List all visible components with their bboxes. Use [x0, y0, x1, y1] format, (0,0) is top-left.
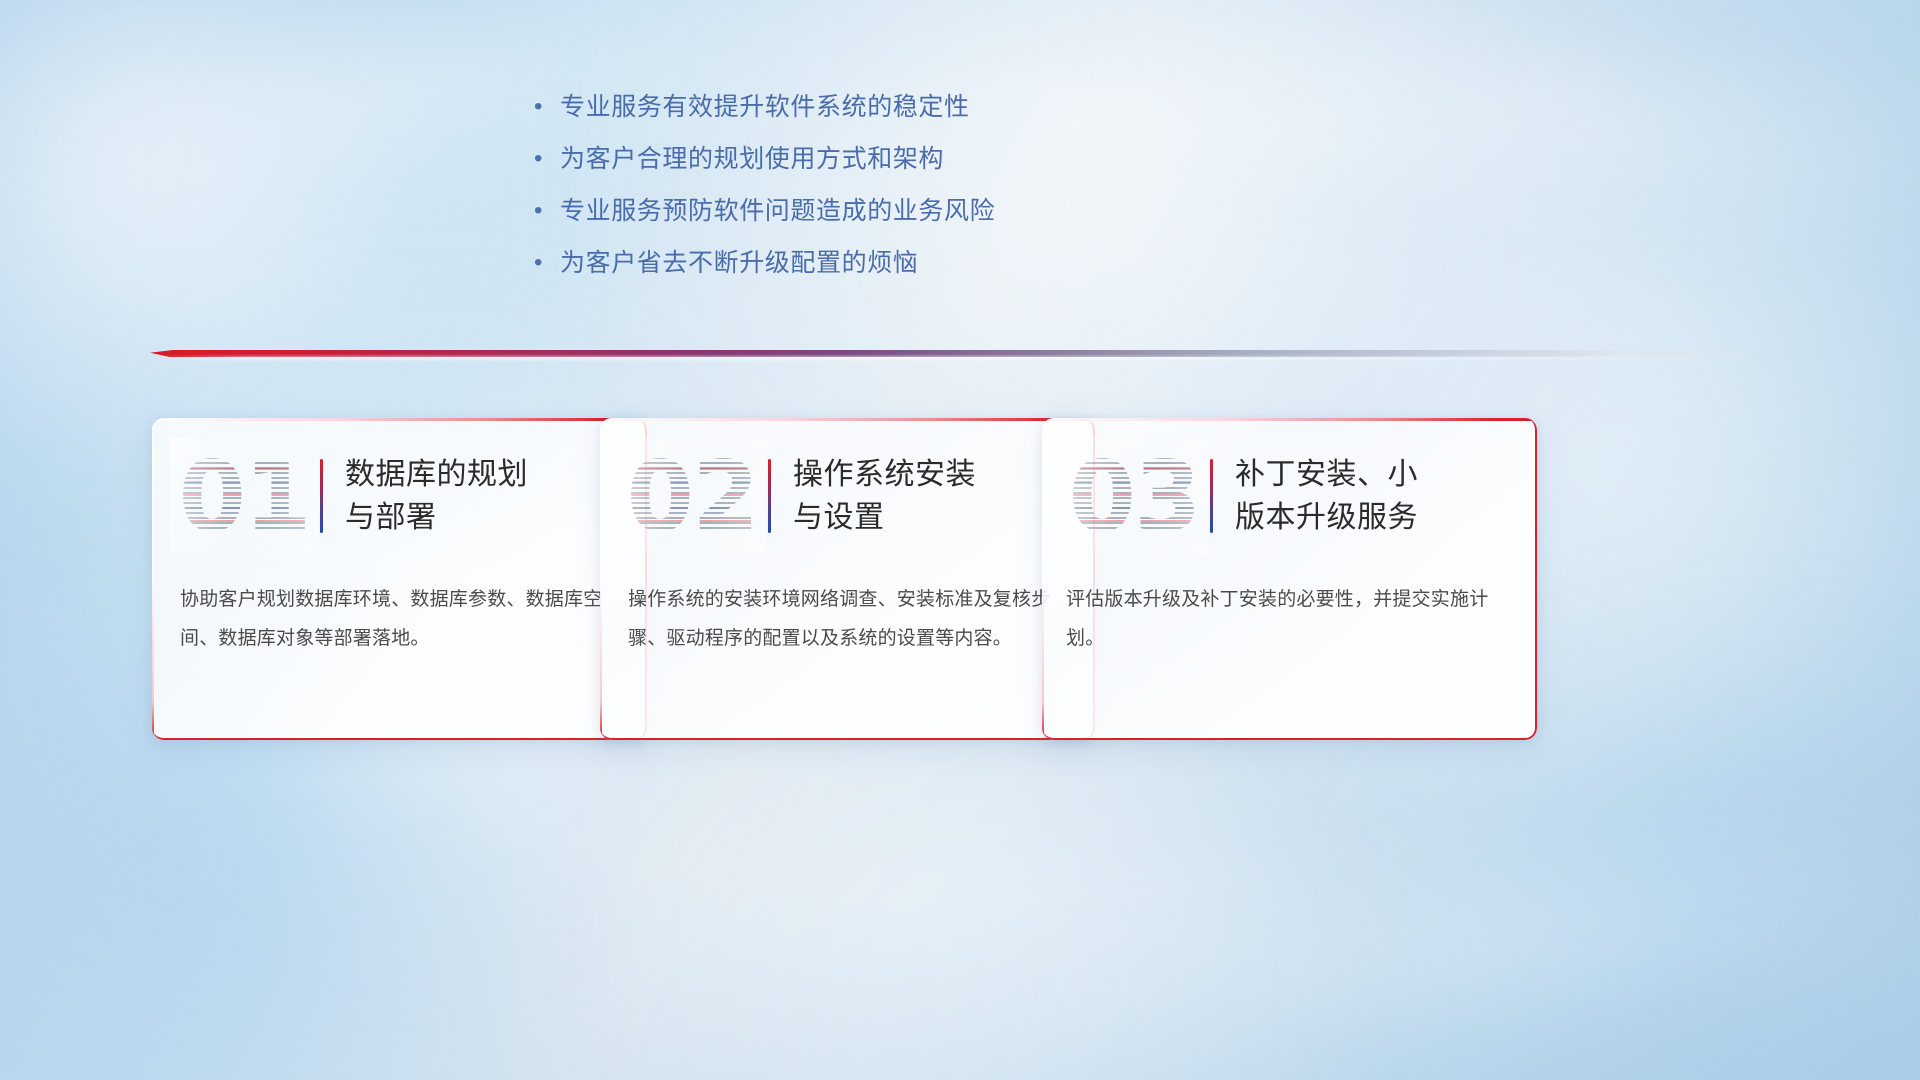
card-header: 02 02 操作系统安装 与设置	[600, 436, 1095, 556]
card-body-text: 评估版本升级及补丁安装的必要性，并提交实施计划。	[1066, 580, 1511, 658]
card-top-border	[600, 418, 1095, 421]
card-number-watermark: 02 02	[622, 442, 762, 550]
card-header: 03 03 补丁安装、小 版本升级服务	[1042, 436, 1537, 556]
card-accent-bar	[768, 459, 771, 533]
card-number-watermark: 01 01	[174, 442, 314, 550]
card-title: 操作系统安装 与设置	[793, 453, 990, 539]
service-card-group: 01 01 数据库的规划 与部署 协助客户规划数据库环境、数据库参数、数据库空间…	[0, 418, 1920, 748]
service-card-03[interactable]: 03 03 补丁安装、小 版本升级服务 评估版本升级及补丁安装的必要性，并提交实…	[1042, 418, 1537, 740]
list-item: 专业服务预防软件问题造成的业务风险	[534, 194, 1294, 246]
divider-highlight	[150, 356, 1780, 360]
card-body-text: 操作系统的安装环境网络调查、安装标准及复核步骤、驱动程序的配置以及系统的设置等内…	[628, 580, 1069, 658]
card-number-glyph-tint: 02	[622, 442, 762, 550]
card-body-text: 协助客户规划数据库环境、数据库参数、数据库空间、数据库对象等部署落地。	[180, 580, 621, 658]
card-number-watermark: 03 03	[1064, 442, 1204, 550]
card-number-glyph-tint: 01	[174, 442, 314, 550]
card-title: 数据库的规划 与部署	[345, 453, 542, 539]
card-title-line-1: 操作系统安装	[793, 453, 976, 496]
bullet-text: 为客户省去不断升级配置的烦恼	[560, 246, 918, 280]
card-title-line-1: 补丁安装、小	[1235, 453, 1418, 496]
bullet-dot-icon	[534, 90, 560, 124]
benefits-bullet-list: 专业服务有效提升软件系统的稳定性 为客户合理的规划使用方式和架构 专业服务预防软…	[534, 90, 1294, 298]
list-item: 为客户合理的规划使用方式和架构	[534, 142, 1294, 194]
service-card-02[interactable]: 02 02 操作系统安装 与设置 操作系统的安装环境网络调查、安装标准及复核步骤…	[600, 418, 1095, 740]
bullet-dot-icon	[534, 194, 560, 228]
card-title-line-2: 与设置	[793, 496, 976, 539]
bullet-dot-icon	[534, 142, 560, 176]
section-divider	[150, 348, 1780, 364]
list-item: 专业服务有效提升软件系统的稳定性	[534, 90, 1294, 142]
card-accent-bar	[1210, 459, 1213, 533]
bullet-text: 专业服务预防软件问题造成的业务风险	[560, 194, 995, 228]
bullet-text: 专业服务有效提升软件系统的稳定性	[560, 90, 970, 124]
card-number-glyph-tint: 03	[1064, 442, 1204, 550]
bullet-dot-icon	[534, 246, 560, 280]
card-accent-bar	[320, 459, 323, 533]
list-item: 为客户省去不断升级配置的烦恼	[534, 246, 1294, 298]
card-top-border	[1042, 418, 1537, 421]
card-title-line-2: 版本升级服务	[1235, 496, 1418, 539]
card-header: 01 01 数据库的规划 与部署	[152, 436, 647, 556]
card-title-line-2: 与部署	[345, 496, 528, 539]
card-top-border	[152, 418, 647, 421]
bullet-text: 为客户合理的规划使用方式和架构	[560, 142, 944, 176]
card-title-line-1: 数据库的规划	[345, 453, 528, 496]
card-title: 补丁安装、小 版本升级服务	[1235, 453, 1432, 539]
service-card-01[interactable]: 01 01 数据库的规划 与部署 协助客户规划数据库环境、数据库参数、数据库空间…	[152, 418, 647, 740]
